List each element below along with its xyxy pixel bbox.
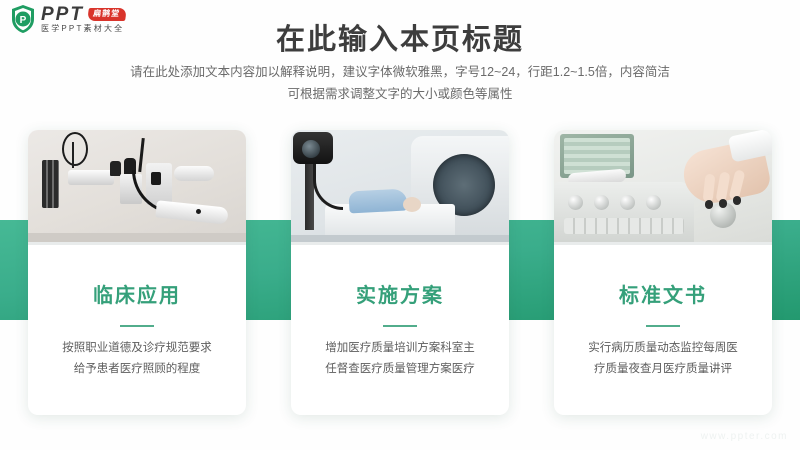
slide-canvas: P PPT 扁鹊堂 医学PPT素材大全 在此输入本页标题 请在此处添加文本内容加… xyxy=(0,0,800,450)
card-heading: 临床应用 xyxy=(93,279,181,308)
card-text: 按照职业道德及诊疗规范要求 给予患者医疗照顾的程度 xyxy=(62,338,212,381)
card-divider xyxy=(383,325,417,327)
card-divider xyxy=(646,325,680,327)
card-text-line-2: 疗质量夜查月医疗质量讲评 xyxy=(588,359,738,380)
subtitle-line-2: 可根据需求调整文字的大小或颜色等属性 xyxy=(0,84,800,106)
card-body: 标准文书 实行病历质量动态监控每周医 疗质量夜查月医疗质量讲评 xyxy=(554,245,772,415)
card-photo-implementation-plan xyxy=(291,130,509,245)
subtitle-line-1: 请在此处添加文本内容加以解释说明，建议字体微软雅黑，字号12~24，行距1.2~… xyxy=(0,62,800,84)
card-photo-standard-documents xyxy=(554,130,772,245)
page-subtitle: 请在此处添加文本内容加以解释说明，建议字体微软雅黑，字号12~24，行距1.2~… xyxy=(0,62,800,106)
card-heading: 实施方案 xyxy=(356,279,444,308)
content-card[interactable]: 临床应用 按照职业道德及诊疗规范要求 给予患者医疗照顾的程度 xyxy=(28,130,246,415)
card-divider xyxy=(120,325,154,327)
card-photo-clinical-application xyxy=(28,130,246,245)
card-text: 实行病历质量动态监控每周医 疗质量夜查月医疗质量讲评 xyxy=(588,338,738,381)
content-card[interactable]: 实施方案 增加医疗质量培训方案科室主 任督查医疗质量管理方案医疗 xyxy=(291,130,509,415)
page-title: 在此输入本页标题 xyxy=(0,16,800,58)
card-body: 临床应用 按照职业道德及诊疗规范要求 给予患者医疗照顾的程度 xyxy=(28,245,246,415)
card-text-line-2: 任督查医疗质量管理方案医疗 xyxy=(325,359,475,380)
card-text-line-2: 给予患者医疗照顾的程度 xyxy=(62,359,212,380)
card-text-line-1: 增加医疗质量培训方案科室主 xyxy=(325,338,475,359)
card-text: 增加医疗质量培训方案科室主 任督查医疗质量管理方案医疗 xyxy=(325,338,475,381)
site-watermark: www.ppter.com xyxy=(701,431,788,442)
card-row: 临床应用 按照职业道德及诊疗规范要求 给予患者医疗照顾的程度 实施方案 xyxy=(0,130,800,420)
card-heading: 标准文书 xyxy=(619,279,707,308)
card-text-line-1: 按照职业道德及诊疗规范要求 xyxy=(62,338,212,359)
card-text-line-1: 实行病历质量动态监控每周医 xyxy=(588,338,738,359)
card-body: 实施方案 增加医疗质量培训方案科室主 任督查医疗质量管理方案医疗 xyxy=(291,245,509,415)
content-card[interactable]: 标准文书 实行病历质量动态监控每周医 疗质量夜查月医疗质量讲评 xyxy=(554,130,772,415)
